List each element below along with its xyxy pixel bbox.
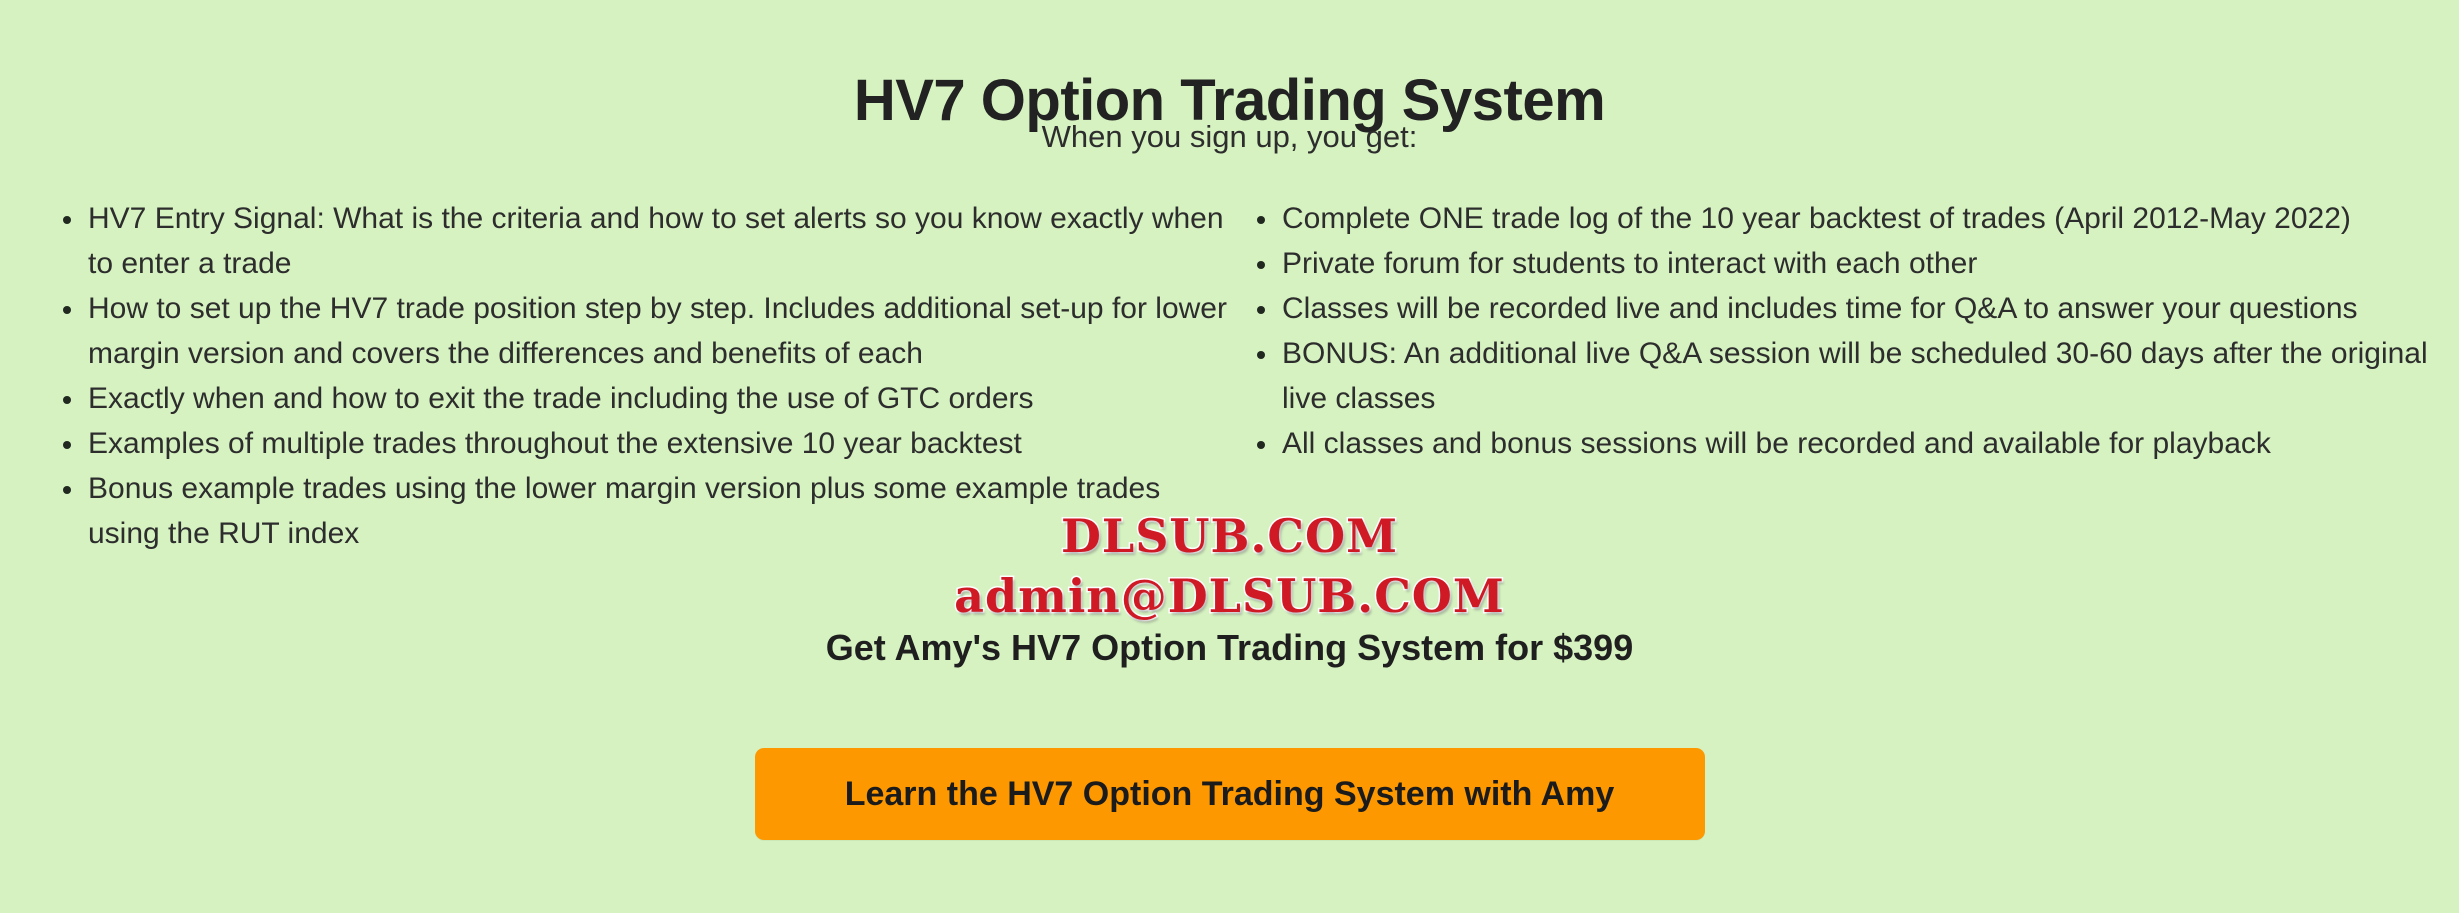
list-item: Complete ONE trade log of the 10 year ba… [1246,196,2439,241]
landing-page: HV7 Option Trading System When you sign … [0,0,2459,913]
benefits-list-left: HV7 Entry Signal: What is the criteria a… [52,196,1235,556]
benefits-list-right: Complete ONE trade log of the 10 year ba… [1246,196,2439,466]
list-item: All classes and bonus sessions will be r… [1246,421,2439,466]
watermark-email: admin@DLSUB.COM [0,570,2459,622]
benefits-column-left: HV7 Entry Signal: What is the criteria a… [0,196,1245,556]
price-headline: Get Amy's HV7 Option Trading System for … [0,625,2459,671]
benefits-columns: HV7 Entry Signal: What is the criteria a… [0,196,2459,556]
page-subtitle: When you sign up, you get: [0,118,2459,156]
list-item: Exactly when and how to exit the trade i… [52,376,1235,421]
list-item: BONUS: An additional live Q&A session wi… [1246,331,2439,421]
cta-container: Learn the HV7 Option Trading System with… [0,748,2459,840]
list-item: Examples of multiple trades throughout t… [52,421,1235,466]
list-item: HV7 Entry Signal: What is the criteria a… [52,196,1235,286]
list-item: Private forum for students to interact w… [1246,241,2439,286]
list-item: Bonus example trades using the lower mar… [52,466,1235,556]
learn-hv7-cta-button[interactable]: Learn the HV7 Option Trading System with… [755,748,1705,840]
benefits-column-right: Complete ONE trade log of the 10 year ba… [1245,196,2459,466]
list-item: Classes will be recorded live and includ… [1246,286,2439,331]
list-item: How to set up the HV7 trade position ste… [52,286,1235,376]
